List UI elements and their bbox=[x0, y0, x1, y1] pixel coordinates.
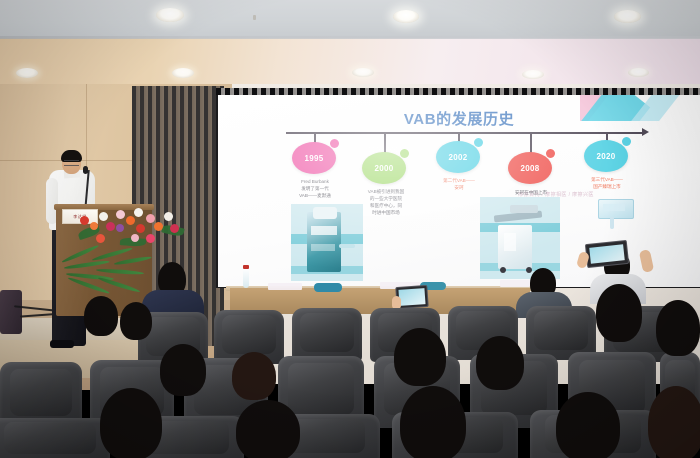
timeline-year-label: 2000 bbox=[375, 164, 394, 173]
timeline-bubble-2008: 2008 bbox=[508, 152, 552, 184]
timeline-year-label: 2020 bbox=[597, 152, 616, 161]
timeline-caption-2000: VAB被引进到我国 的一些大学医院 和医疗中心，同 时进中国市场 bbox=[354, 188, 418, 216]
downlight-icon bbox=[16, 68, 38, 78]
downlight-icon bbox=[172, 68, 194, 78]
audience-head bbox=[648, 386, 700, 458]
audience-head bbox=[84, 296, 118, 336]
timeline-bubble-2000: 2000 bbox=[362, 152, 406, 184]
ceiling-lower bbox=[0, 38, 700, 88]
timeline-stem bbox=[384, 132, 386, 154]
timeline-year-label: 2008 bbox=[521, 164, 540, 173]
audience-head bbox=[120, 302, 152, 340]
bottle-cap bbox=[243, 265, 249, 269]
downlight-icon bbox=[614, 10, 641, 23]
folded-towel bbox=[314, 283, 342, 292]
downlight-icon bbox=[393, 10, 419, 23]
phone-screen bbox=[589, 244, 624, 263]
timeline-year-label: 1995 bbox=[305, 154, 324, 163]
loudspeaker-box bbox=[0, 290, 22, 334]
slide-photo-2020 bbox=[596, 199, 636, 233]
timeline-arrow-icon bbox=[642, 128, 649, 136]
timeline-caption-2002: 第二代VAB—— 安珂 bbox=[428, 177, 490, 191]
flower-arrangement bbox=[76, 198, 188, 256]
audience-head bbox=[656, 300, 700, 356]
timeline-year-label: 2002 bbox=[449, 153, 468, 162]
microphone-icon bbox=[83, 166, 88, 174]
slide-photo-2002 bbox=[480, 197, 560, 279]
tablet-screen bbox=[398, 288, 425, 306]
timeline-bubble-2002: 2002 bbox=[436, 141, 480, 173]
chair bbox=[0, 418, 110, 458]
audience-head bbox=[400, 386, 466, 458]
slide-title: VAB的发展历史 bbox=[218, 108, 700, 129]
audience-head bbox=[556, 392, 620, 458]
audience-head bbox=[394, 328, 446, 386]
timeline-caption-2020: 第三代VAB—— 国产臻瑞上市 bbox=[576, 176, 638, 190]
audience-head bbox=[232, 352, 276, 400]
downlight-icon bbox=[352, 68, 374, 77]
timeline-bubble-2020: 2020 bbox=[584, 140, 628, 172]
chair bbox=[292, 308, 362, 362]
audience-head bbox=[476, 336, 524, 390]
timeline-axis bbox=[286, 132, 644, 134]
slide-photo-1995 bbox=[291, 204, 363, 281]
timeline-caption-1995: Fred Burbank 发明了第一代 VAB——麦默通 bbox=[284, 178, 346, 199]
downlight-icon bbox=[628, 68, 649, 77]
audience-head bbox=[596, 284, 642, 342]
timeline-caption-2008: 安珂在中国上市 bbox=[500, 189, 562, 196]
ceiling-seam bbox=[0, 36, 700, 39]
conference-photo: 摩擦百代 / 摩擦相医 / 摩擦兴医 VAB的发展历史 1995 Fred Bu… bbox=[0, 0, 700, 458]
glasses-icon bbox=[64, 160, 79, 166]
audience-head bbox=[100, 388, 162, 458]
paper-sheet bbox=[500, 280, 530, 287]
ceiling-upper bbox=[0, 0, 700, 38]
paper-sheet bbox=[268, 283, 302, 290]
timeline-bubble-1995: 1995 bbox=[292, 142, 336, 174]
downlight-icon bbox=[156, 8, 184, 22]
downlight-icon bbox=[522, 70, 544, 79]
smartphone[interactable] bbox=[585, 240, 629, 268]
screen-top-trim bbox=[216, 88, 700, 95]
water-bottle bbox=[243, 268, 249, 288]
sprinkler-icon bbox=[253, 15, 256, 20]
speaker-shoe bbox=[50, 340, 74, 348]
timeline-stem bbox=[530, 132, 532, 154]
audience-head bbox=[160, 344, 206, 396]
audience-head bbox=[236, 400, 300, 458]
